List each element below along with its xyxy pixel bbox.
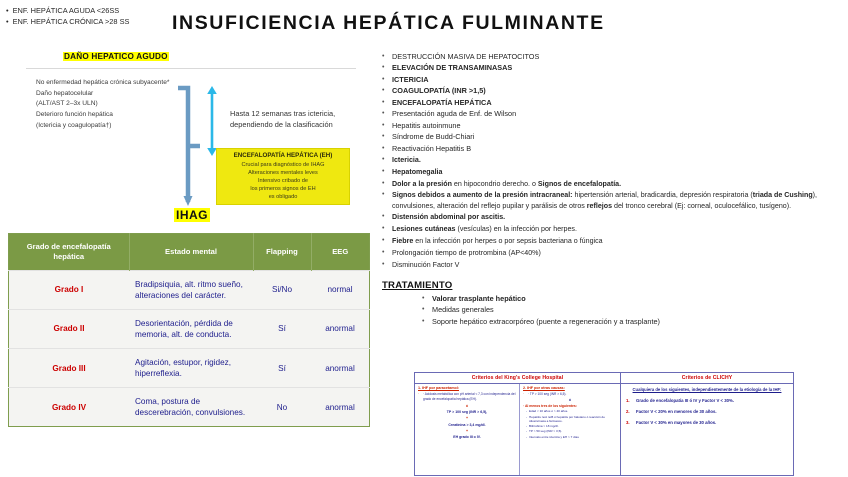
list-item-text: Lesiones cutáneas (vesículas) en la infe… — [392, 224, 844, 234]
hepatic-encephalopathy-box: ENCEFALOPATÍA HEPÁTICA (EH) Crucial para… — [216, 148, 350, 205]
kc-col2-subtitle: 2. IHF por otras causas: — [523, 386, 617, 390]
header-bullet-text: ENF. HEPÁTICA CRÓNICA >28 SS — [13, 16, 130, 27]
list-item: •Presentación aguda de Enf. de Wilson — [382, 109, 844, 120]
clichy-lead: Cualquiera de los siguientes, independie… — [626, 387, 788, 393]
cell-eeg: anormal — [311, 388, 370, 427]
list-item-text: Síndrome de Budd-Chiari — [392, 132, 844, 143]
acute-liver-damage-diagram: DAÑO HEPATICO AGUDO No enfermedad hepáti… — [8, 48, 370, 220]
dash-icon: - — [526, 424, 527, 428]
kc-col1-stack: ó TP > 100 seg (INR > 6,5), + Creatinina… — [418, 403, 516, 441]
kings-college-panel: Criterios del King's College Hospital 1.… — [415, 373, 621, 475]
cell-eeg: normal — [311, 270, 370, 309]
eh-box-line: Alteraciones mentales leves — [219, 170, 347, 178]
clichy-item-text: Factor V < 30% en mayores de 30 años. — [636, 420, 716, 426]
prognostic-criteria-table: Criterios del King's College Hospital 1.… — [414, 372, 794, 476]
clinical-signs-list: •Ictericia.•Hepatomegalia•Dolor a la pre… — [382, 155, 844, 271]
list-item-text: Reactivación Hepatitis B — [392, 144, 844, 155]
list-item: •Ictericia. — [382, 155, 844, 166]
table-header-row: Grado de encefalopatía hepática Estado m… — [9, 234, 370, 271]
treatment-item-text: Medidas generales — [432, 305, 844, 316]
kc-col2-item-list: -Edad < 10 años ó > 40 años.-Hepatitis n… — [523, 409, 617, 439]
bullet-dot-icon: • — [382, 98, 387, 109]
list-item: •Síndrome de Budd-Chiari — [382, 132, 844, 143]
column-header-eeg: EEG — [311, 234, 370, 271]
list-item: • ENF. HEPÁTICA CRÓNICA >28 SS — [6, 16, 166, 27]
list-item: •Distensión abdominal por ascitis. — [382, 212, 844, 223]
list-item: •ICTERICIA — [382, 75, 844, 86]
list-item-text: ICTERICIA — [392, 75, 844, 86]
clichy-item: 3.Factor V < 30% en mayores de 30 años. — [626, 420, 788, 426]
column-header-mental: Estado mental — [129, 234, 253, 271]
kc-col1-subtitle: 1. IHF por paracetamol: — [418, 386, 516, 390]
table-row: Grado III Agitación, estupor, rigidez, h… — [9, 348, 370, 387]
etiology-list: •Presentación aguda de Enf. de Wilson•He… — [382, 109, 844, 154]
bullet-dot-icon: • — [382, 52, 387, 63]
list-item: •Hepatitis autoinmune — [382, 121, 844, 132]
kc-stack-line: EH grado III o IV. — [418, 434, 516, 440]
key-findings-list: •ELEVACIÓN DE TRANSAMINASAS•ICTERICIA•CO… — [382, 63, 844, 108]
treatment-item: •Soporte hepático extracorpóreo (puente … — [422, 317, 844, 328]
table-row: Grado II Desorientación, pérdida de memo… — [9, 309, 370, 348]
bullet-dot-icon: • — [422, 294, 427, 305]
kings-col-paracetamol: 1. IHF por paracetamol: · · Acidosis met… — [415, 384, 520, 475]
header-bullet-text: ENF. HEPÁTICA AGUDA <26SS — [13, 5, 120, 16]
slide-root: • ENF. HEPÁTICA AGUDA <26SS • ENF. HEPÁT… — [0, 0, 848, 477]
duration-label: Hasta 12 semanas tras ictericia, dependi… — [230, 108, 360, 131]
kc-col2-item-text: Hepatitis noA noB ó hepatitis por halota… — [529, 415, 617, 424]
kc-col2-operator-o: ó — [523, 398, 617, 402]
treatment-item: •Medidas generales — [422, 305, 844, 316]
eh-box-line: los primeros signos de EH — [219, 186, 347, 194]
list-item: •COAGULOPATÍA (INR >1,5) — [382, 86, 844, 97]
list-item-text: Ictericia. — [392, 155, 844, 165]
clichy-item-number: 1. — [626, 398, 633, 404]
bullet-dot-icon: • — [382, 260, 387, 271]
table-row: Grado I Bradipsiquia, alt. ritmo sueño, … — [9, 270, 370, 309]
list-item-text: Presentación aguda de Enf. de Wilson — [392, 109, 844, 120]
list-item-text: ELEVACIÓN DE TRANSAMINASAS — [392, 63, 844, 74]
list-item-text: COAGULOPATÍA (INR >1,5) — [392, 86, 844, 97]
clichy-item-number: 2. — [626, 409, 633, 415]
list-item-text: Disminución Factor V — [392, 260, 844, 270]
kc-col2-item-text: Edad < 10 años ó > 40 años. — [529, 409, 568, 413]
encephalopathy-grade-table: Grado de encefalopatía hepática Estado m… — [8, 233, 370, 427]
kings-col-other-causes: 2. IHF por otras causas: · · TP > 100 se… — [520, 384, 620, 475]
kc-col1-item-text: · Acidosis metabólica con pH arterial < … — [423, 392, 516, 401]
bullet-dot-icon: • — [382, 109, 387, 120]
clichy-title: Criterios de CLICHY — [621, 373, 793, 384]
dash-icon: · — [523, 392, 526, 397]
bullet-dot-icon: • — [382, 86, 387, 97]
bullet-dot-icon: • — [382, 75, 387, 86]
bullet-dot-icon: • — [382, 224, 387, 235]
right-content-column: •DESTRUCCIÓN MASIVA DE HEPATOCITOS •ELEV… — [382, 52, 844, 328]
column-header-flapping: Flapping — [253, 234, 311, 271]
cell-mental: Bradipsiquia, alt. ritmo sueño, alteraci… — [129, 270, 253, 309]
bullet-dot-icon: • — [6, 16, 9, 27]
cell-grade: Grado I — [9, 270, 130, 309]
kc-col2-item-text: TP > 50 seg (INR > 3,5). — [529, 429, 562, 433]
bullet-dot-icon: • — [382, 179, 387, 190]
list-item-text: Distensión abdominal por ascitis. — [392, 212, 844, 222]
cell-mental: Coma, postura de descerebración, convuls… — [129, 388, 253, 427]
bullet-dot-icon: • — [422, 305, 427, 316]
treatment-heading: TRATAMIENTO — [382, 280, 844, 291]
bullet-dot-icon: • — [382, 132, 387, 143]
list-item: •Fiebre en la infección por herpes o por… — [382, 236, 844, 247]
eh-box-line: es obligado — [219, 194, 347, 202]
diagram-divider — [26, 68, 356, 69]
list-item-text: Signos debidos a aumento de la presión i… — [392, 190, 844, 211]
diagram-outcome-label: IHAG — [174, 208, 210, 222]
treatment-item: •Valorar trasplante hepático — [422, 294, 844, 305]
table-body: Grado I Bradipsiquia, alt. ritmo sueño, … — [9, 270, 370, 427]
clichy-body: Cualquiera de los siguientes, independie… — [621, 384, 793, 475]
cell-flapping: Sí — [253, 348, 311, 387]
treatment-item-text: Valorar trasplante hepático — [432, 294, 844, 305]
dash-icon: · — [418, 392, 421, 401]
eh-box-title: ENCEFALOPATÍA HEPÁTICA (EH) — [219, 152, 347, 161]
bullet-dot-icon: • — [382, 236, 387, 247]
bullet-dot-icon: • — [422, 317, 427, 328]
clichy-item: 1.Grado de encefalopatía III ó IV y Fact… — [626, 398, 788, 404]
clichy-item-list: 1.Grado de encefalopatía III ó IV y Fact… — [626, 398, 788, 426]
diagram-heading: DAÑO HEPATICO AGUDO — [63, 52, 169, 61]
kc-col2-item: -Intervalo entre ictericia y EH > 7 días — [523, 435, 617, 439]
kc-col2-item-text: Bilirrubina > 18 mg/dl. — [529, 424, 559, 428]
bullet-dot-icon: • — [6, 5, 9, 16]
list-item-text: Prolongación tiempo de protrombina (AP<4… — [392, 248, 844, 258]
list-item: •Disminución Factor V — [382, 260, 844, 271]
eh-box-line: Intensivo cribado de — [219, 178, 347, 186]
cell-eeg: anormal — [311, 348, 370, 387]
cell-flapping: Sí — [253, 309, 311, 348]
bullet-dot-icon: • — [382, 121, 387, 132]
bullet-dot-icon: • — [382, 248, 387, 259]
dash-icon: - — [526, 435, 527, 439]
list-item: •Hepatomegalia — [382, 167, 844, 178]
kings-college-body: 1. IHF por paracetamol: · · Acidosis met… — [415, 384, 620, 475]
kings-college-title: Criterios del King's College Hospital — [415, 373, 620, 384]
list-item-text: Hepatitis autoinmune — [392, 121, 844, 132]
list-item-text: Hepatomegalia — [392, 167, 844, 177]
clichy-item-text: Factor V < 20% en menores de 30 años. — [636, 409, 717, 415]
header-bullet-list: • ENF. HEPÁTICA AGUDA <26SS • ENF. HEPÁT… — [6, 5, 166, 28]
cell-grade: Grado IV — [9, 388, 130, 427]
cell-mental: Agitación, estupor, rigidez, hiperreflex… — [129, 348, 253, 387]
kc-col1-item: · · Acidosis metabólica con pH arterial … — [418, 392, 516, 401]
cell-mental: Desorientación, pérdida de memoria, alt.… — [129, 309, 253, 348]
treatment-list: •Valorar trasplante hepático•Medidas gen… — [382, 294, 844, 328]
bullet-dot-icon: • — [382, 167, 387, 178]
dash-icon: - — [526, 409, 527, 413]
bullet-dot-icon: • — [382, 212, 387, 223]
column-header-grade: Grado de encefalopatía hepática — [9, 234, 130, 271]
list-item: •Prolongación tiempo de protrombina (AP<… — [382, 248, 844, 259]
bullet-dot-icon: • — [382, 190, 387, 201]
pathophysiology-list: •DESTRUCCIÓN MASIVA DE HEPATOCITOS — [382, 52, 844, 63]
kc-col2-item: -TP > 50 seg (INR > 3,5). — [523, 429, 617, 433]
cell-grade: Grado II — [9, 309, 130, 348]
clichy-item: 2.Factor V < 20% en menores de 30 años. — [626, 409, 788, 415]
cell-flapping: No — [253, 388, 311, 427]
kc-col2-first-text: · TP > 100 seg (INR > 6,5). — [528, 392, 566, 397]
cell-flapping: Si/No — [253, 270, 311, 309]
table-row: Grado IV Coma, postura de descerebración… — [9, 388, 370, 427]
treatment-item-text: Soporte hepático extracorpóreo (puente a… — [432, 317, 844, 328]
list-item: •Dolor a la presión en hipocondrio derec… — [382, 179, 844, 190]
list-item-text: DESTRUCCIÓN MASIVA DE HEPATOCITOS — [392, 52, 844, 63]
bullet-dot-icon: • — [382, 63, 387, 74]
kc-col2-second-head: · Al menos tres de los siguientes: — [523, 404, 617, 408]
clichy-item-text: Grado de encefalopatía III ó IV y Factor… — [636, 398, 734, 404]
list-item: •ENCEFALOPATÍA HEPÁTICA — [382, 98, 844, 109]
list-item: •ELEVACIÓN DE TRANSAMINASAS — [382, 63, 844, 74]
flow-brace-arrow-icon — [176, 84, 202, 206]
clichy-panel: Criterios de CLICHY Cualquiera de los si… — [621, 373, 793, 475]
dash-icon: - — [526, 429, 527, 433]
bullet-dot-icon: • — [382, 155, 387, 166]
list-item: •Lesiones cutáneas (vesículas) en la inf… — [382, 224, 844, 235]
clichy-item-number: 3. — [626, 420, 633, 426]
kc-col2-first: · · TP > 100 seg (INR > 6,5). — [523, 392, 617, 397]
list-item: •Reactivación Hepatitis B — [382, 144, 844, 155]
dash-icon: - — [526, 415, 527, 424]
cell-eeg: anormal — [311, 309, 370, 348]
kc-col2-item: -Hepatitis noA noB ó hepatitis por halot… — [523, 415, 617, 424]
list-item: •Signos debidos a aumento de la presión … — [382, 190, 844, 211]
kc-col2-item: -Bilirrubina > 18 mg/dl. — [523, 424, 617, 428]
list-item: •DESTRUCCIÓN MASIVA DE HEPATOCITOS — [382, 52, 844, 63]
list-item-text: Dolor a la presión en hipocondrio derech… — [392, 179, 844, 189]
kc-col2-item-text: Intervalo entre ictericia y EH > 7 días — [529, 435, 579, 439]
double-headed-arrow-icon — [206, 86, 218, 156]
kc-col2-item: -Edad < 10 años ó > 40 años. — [523, 409, 617, 413]
page-title: INSUFICIENCIA HEPÁTICA FULMINANTE — [172, 12, 702, 35]
cell-grade: Grado III — [9, 348, 130, 387]
list-item-text: Fiebre en la infección por herpes o por … — [392, 236, 844, 246]
list-item: • ENF. HEPÁTICA AGUDA <26SS — [6, 5, 166, 16]
bullet-dot-icon: • — [382, 144, 387, 155]
list-item-text: ENCEFALOPATÍA HEPÁTICA — [392, 98, 844, 109]
eh-box-line: Crucial para diagnóstico de IHAG — [219, 162, 347, 170]
